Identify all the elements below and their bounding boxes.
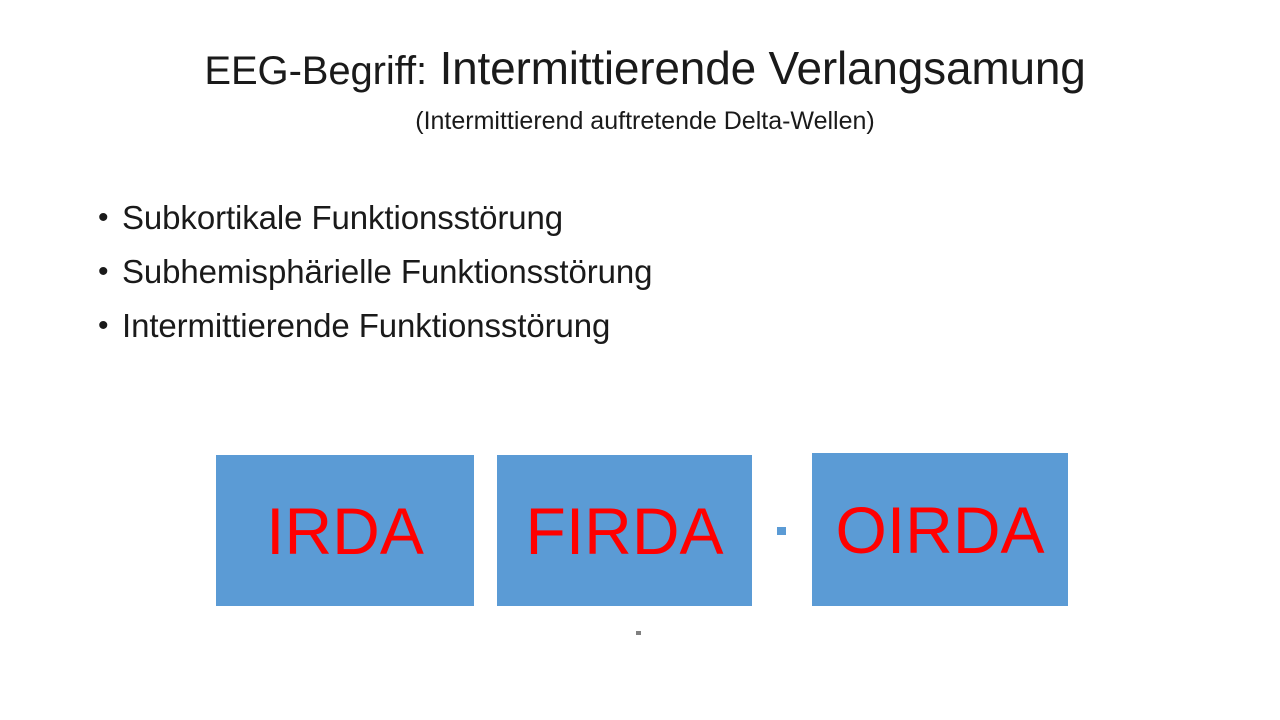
diagram-box-label: IRDA <box>266 498 424 564</box>
diagram-box-label: OIRDA <box>835 497 1044 563</box>
small-square-marker-icon <box>777 527 786 535</box>
diagram-box-firda[interactable]: FIRDA <box>497 455 752 606</box>
slide-canvas: EEG-Begriff: Intermittierende Verlangsam… <box>0 0 1280 720</box>
diagram-box-label: FIRDA <box>526 498 724 564</box>
diagram-boxes: IRDA FIRDA OIRDA <box>0 0 1280 720</box>
diagram-box-irda[interactable]: IRDA <box>216 455 474 606</box>
tiny-dot-marker-icon <box>636 631 641 635</box>
diagram-box-oirda[interactable]: OIRDA <box>812 453 1068 606</box>
